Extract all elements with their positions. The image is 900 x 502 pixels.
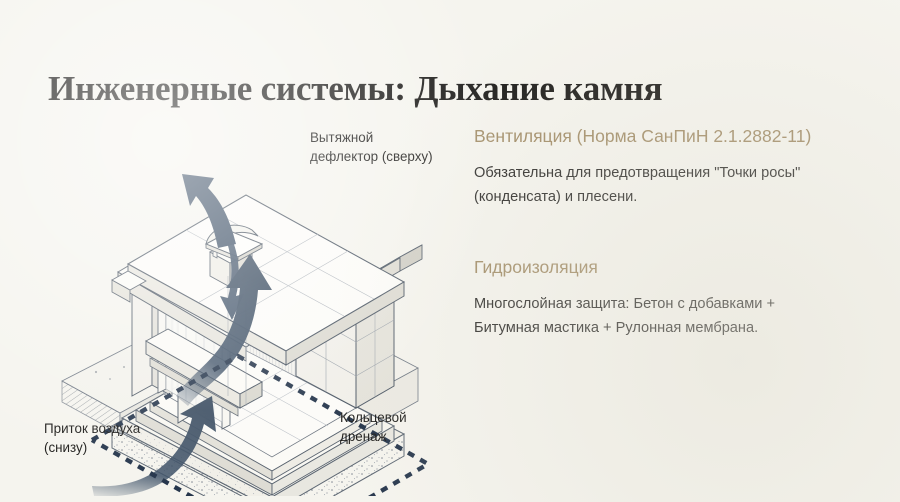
section-ventilation-body-line1: Обязательна для предотвращения "Точки ро… [474, 161, 874, 185]
section-waterproofing-heading: Гидроизоляция [474, 255, 874, 279]
callout-deflector-line1: Вытяжной [310, 129, 433, 148]
section-ventilation-body-line2: (конденсата) и плесени. [474, 185, 874, 209]
info-column: Вентиляция (Норма СанПиН 2.1.2882-11) Об… [474, 124, 874, 340]
callout-deflector: Вытяжной дефлектор (сверху) [310, 129, 433, 166]
callout-air-inflow: Приток воздуха (снизу) [44, 420, 140, 457]
section-waterproofing-body: Многослойная защита: Бетон с добавками +… [474, 292, 874, 340]
section-ventilation-heading: Вентиляция (Норма СанПиН 2.1.2882-11) [474, 124, 874, 148]
section-waterproofing: Гидроизоляция Многослойная защита: Бетон… [474, 255, 874, 340]
section-ventilation-body: Обязательна для предотвращения "Точки ро… [474, 161, 874, 209]
callout-air-inflow-line2: (снизу) [44, 439, 140, 458]
slide-root: Инженерные системы: Дыхание камня [0, 0, 900, 502]
section-waterproofing-body-line1: Многослойная защита: Бетон с добавками + [474, 292, 874, 316]
section-ventilation: Вентиляция (Норма СанПиН 2.1.2882-11) Об… [474, 124, 874, 209]
section-waterproofing-body-line2: Битумная мастика + Рулонная мембрана. [474, 316, 874, 340]
callout-ring-drainage-line1: Кольцевой [340, 409, 407, 428]
callout-ring-drainage-line2: дренаж [340, 428, 407, 447]
callout-air-inflow-line1: Приток воздуха [44, 420, 140, 439]
page-title: Инженерные системы: Дыхание камня [48, 69, 662, 109]
callout-ring-drainage: Кольцевой дренаж [340, 409, 407, 446]
callout-deflector-line2: дефлектор (сверху) [310, 148, 433, 167]
